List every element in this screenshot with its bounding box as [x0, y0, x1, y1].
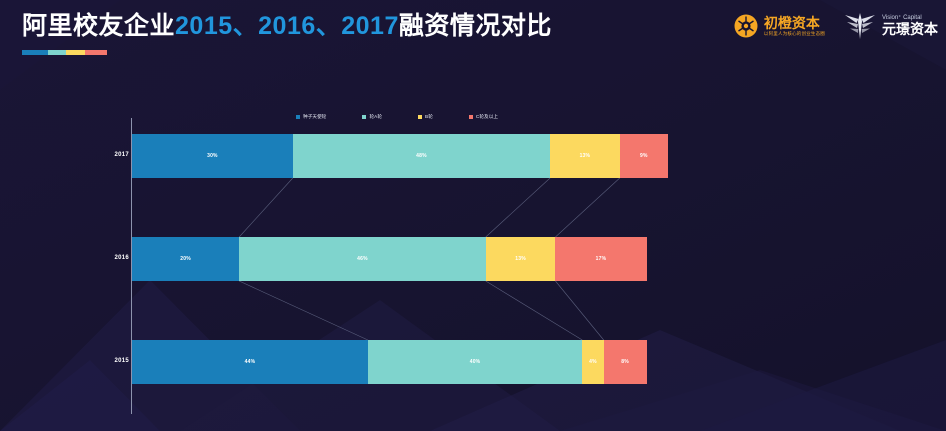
bar-segment-round-a-2017[interactable]: 48% — [293, 134, 550, 178]
bar-segment-seed-angel-2015[interactable]: 44% — [132, 340, 368, 384]
underline-seg-4 — [85, 50, 107, 55]
page-title-part1: 阿里校友企业 — [22, 12, 175, 40]
bar-segment-round-c-plus-2017[interactable]: 9% — [620, 134, 668, 178]
table-row: 20%46%13%17% — [132, 237, 668, 281]
bar-segment-label: 9% — [640, 153, 648, 159]
stacked-bar-plot: 2017 2016 2015 30%48%13%9% 20%46%13%17% … — [103, 114, 683, 414]
bar-segment-label: 13% — [580, 153, 591, 159]
bar-segment-seed-angel-2016[interactable]: 20% — [132, 237, 239, 281]
bar-segment-label: 13% — [515, 256, 526, 262]
page-title: 阿里校友企业2015、2016、2017融资情况对比 — [22, 14, 552, 39]
bar-segment-label: 20% — [180, 256, 191, 262]
title-underline-bar — [22, 50, 107, 55]
bar-segment-round-a-2015[interactable]: 40% — [368, 340, 582, 384]
table-row: 30%48%13%9% — [132, 134, 668, 178]
bar-segment-round-b-2017[interactable]: 13% — [550, 134, 620, 178]
underline-seg-1 — [22, 50, 48, 55]
bar-segment-round-c-plus-2016[interactable]: 17% — [555, 237, 646, 281]
vision-capital-wings-icon — [843, 11, 877, 41]
bar-segment-label: 48% — [416, 153, 427, 159]
bar-segment-label: 17% — [596, 256, 607, 262]
underline-seg-3 — [66, 50, 85, 55]
bar-segment-label: 44% — [245, 359, 256, 365]
bar-segment-seed-angel-2017[interactable]: 30% — [132, 134, 293, 178]
bar-segment-label: 4% — [589, 359, 597, 365]
logo-area: 初橙资本 以阿里人为核心的创业生态圈 Vision⁺ Capital 元璟资本 — [733, 4, 938, 48]
bar-segment-label: 8% — [621, 359, 629, 365]
bar-segment-label: 46% — [357, 256, 368, 262]
bar-segment-round-a-2016[interactable]: 46% — [239, 237, 486, 281]
bar-segment-label: 40% — [470, 359, 481, 365]
chuorange-logo-cn: 初橙资本 — [764, 16, 825, 31]
chart-area: 种子天使轮 轮A轮 В轮 C轮及以上 2017 2016 2015 30%48%… — [0, 62, 946, 431]
page-title-part2: 2015、2016、2017 — [175, 12, 399, 40]
y-axis-tick-2017: 2017 — [103, 152, 129, 158]
page-header: 阿里校友企业2015、2016、2017融资情况对比 初橙资本 以阿里人为核心的… — [0, 0, 946, 62]
chuorange-logo-icon — [733, 13, 759, 39]
bar-segment-round-b-2016[interactable]: 13% — [486, 237, 556, 281]
logo-vision-plus-capital: Vision⁺ Capital 元璟资本 — [843, 11, 938, 41]
underline-seg-2 — [48, 50, 67, 55]
page-title-part3: 融资情况对比 — [399, 12, 552, 40]
bar-segment-round-b-2015[interactable]: 4% — [582, 340, 603, 384]
bar-segment-round-c-plus-2015[interactable]: 8% — [604, 340, 647, 384]
chuorange-logo-tagline: 以阿里人为核心的创业生态圈 — [764, 31, 825, 36]
y-axis-tick-2015: 2015 — [103, 358, 129, 364]
y-axis-tick-2016: 2016 — [103, 255, 129, 261]
vision-logo-cn: 元璟资本 — [882, 22, 938, 37]
bar-segment-label: 30% — [207, 153, 218, 159]
logo-chuorange-capital: 初橙资本 以阿里人为核心的创业生态圈 — [733, 13, 825, 39]
table-row: 44%40%4%8% — [132, 340, 668, 384]
